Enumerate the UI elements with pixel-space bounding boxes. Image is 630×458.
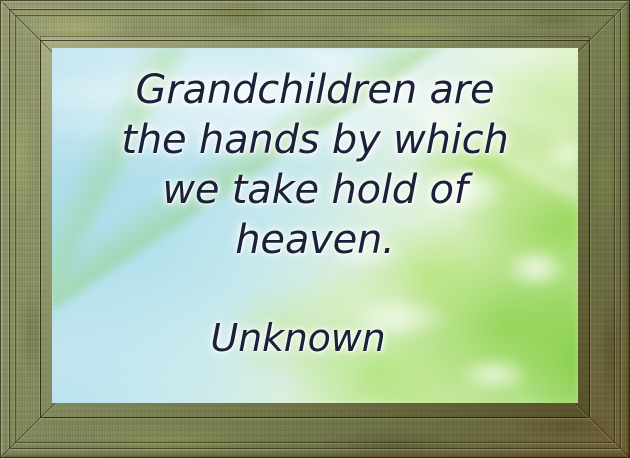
framed-quote-artwork: Grandchildren are the hands by which we … xyxy=(0,0,630,458)
quote-line-3: we take hold of xyxy=(162,165,467,215)
quote-line-1: Grandchildren are xyxy=(136,65,495,115)
picture-canvas: Grandchildren are the hands by which we … xyxy=(52,48,578,403)
quote-attribution: Unknown xyxy=(211,315,386,361)
quote-line-2: the hands by which xyxy=(121,115,508,165)
quote-text-block: Grandchildren are the hands by which we … xyxy=(52,48,578,403)
quote-line-4: heaven. xyxy=(235,215,394,265)
